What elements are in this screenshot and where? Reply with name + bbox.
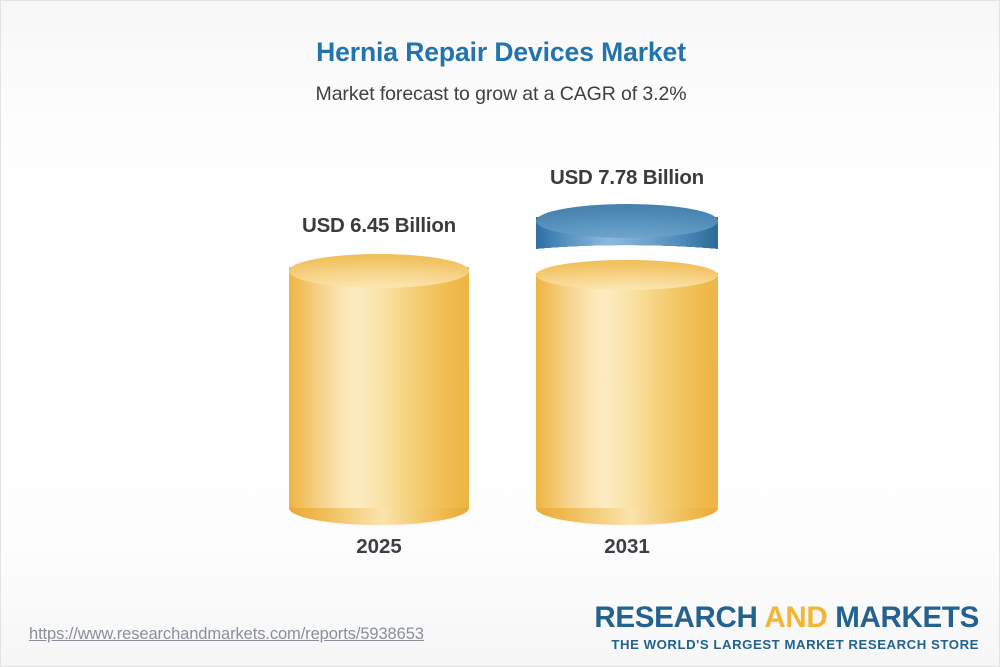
bar-category-label-2025: 2025 (289, 535, 469, 559)
chart-footer: https://www.researchandmarkets.com/repor… (1, 594, 1000, 666)
bar-category-label-2031: 2031 (536, 535, 718, 559)
brand-tagline: THE WORLD'S LARGEST MARKET RESEARCH STOR… (594, 637, 979, 652)
cylinder-top-cap-2031 (536, 204, 718, 238)
cylinder-body-2031-base (536, 273, 718, 508)
page-title: Hernia Repair Devices Market (1, 37, 1000, 69)
source-url-link[interactable]: https://www.researchandmarkets.com/repor… (29, 625, 424, 644)
brand-word-and: AND (764, 601, 827, 634)
brand-word-markets: MARKETS (835, 601, 979, 634)
cylinder-top-cap-2025 (289, 254, 469, 288)
brand-wordmark: RESEARCH AND MARKETS (594, 603, 979, 633)
chart-header: Hernia Repair Devices Market Market fore… (1, 37, 1000, 106)
chart-canvas: Hernia Repair Devices Market Market fore… (0, 0, 1000, 667)
chart-subtitle: Market forecast to grow at a CAGR of 3.2… (1, 83, 1000, 106)
bar-value-label-2031: USD 7.78 Billion (535, 166, 719, 190)
cylinder-body-2025-base (289, 267, 469, 508)
brand-logo[interactable]: RESEARCH AND MARKETS THE WORLD'S LARGEST… (594, 603, 979, 653)
brand-word-research: RESEARCH (594, 601, 757, 634)
bar-value-label-2025: USD 6.45 Billion (289, 214, 469, 238)
